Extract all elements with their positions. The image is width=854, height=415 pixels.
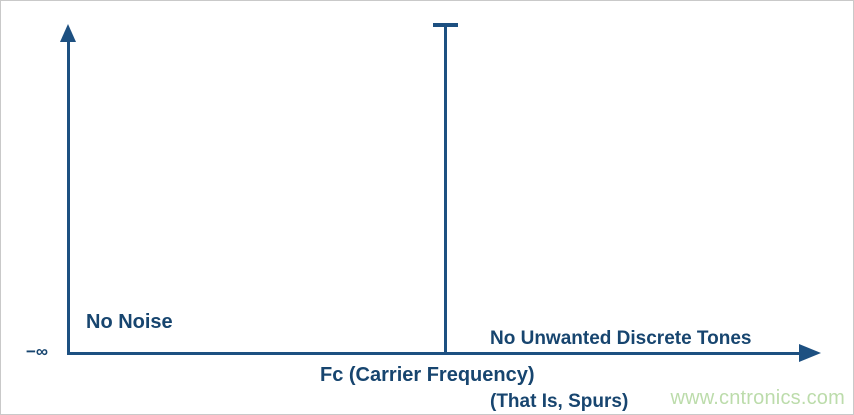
- annotation-no-noise: No Noise: [86, 311, 173, 333]
- amplitude-axis-line: [67, 39, 70, 355]
- annotation-no-unwanted-tones-line1: No Unwanted Discrete Tones: [490, 328, 751, 349]
- amplitude-axis-arrow-icon: [60, 24, 76, 42]
- carrier-frequency-label: Fc (Carrier Frequency): [320, 364, 535, 386]
- carrier-spike-cap: [433, 23, 458, 27]
- frequency-axis-arrow-icon: [799, 344, 821, 362]
- carrier-spike-line: [444, 26, 447, 355]
- y-axis-min-label: −∞: [26, 342, 48, 361]
- site-watermark: www.cntronics.com: [670, 387, 845, 410]
- diagram-canvas: −∞ No Noise No Unwanted Discrete Tones (…: [0, 0, 854, 415]
